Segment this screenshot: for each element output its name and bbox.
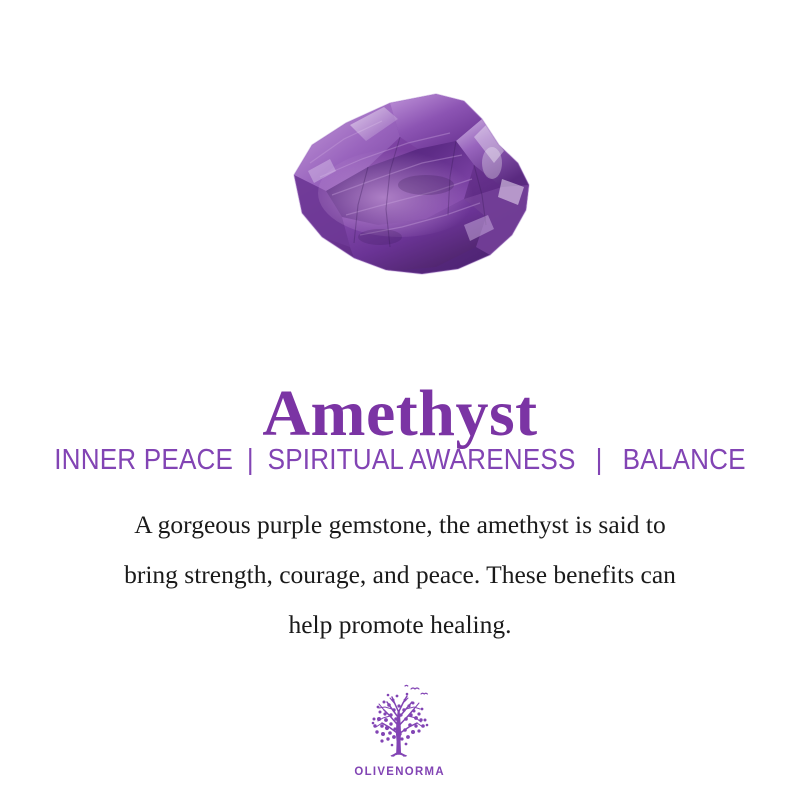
tree-logo-icon xyxy=(361,682,439,762)
attribute-separator: | xyxy=(241,444,261,476)
attribute-inner-peace: INNER PEACE xyxy=(54,444,233,476)
raw-amethyst-crystal-icon xyxy=(250,67,550,297)
description-text: A gorgeous purple gemstone, the amethyst… xyxy=(60,500,740,650)
brand-logo: OLIVENORMA xyxy=(0,682,800,778)
brand-wordmark: OLIVENORMA xyxy=(355,764,446,778)
attribute-spiritual-awareness: SPIRITUAL AWARENESS xyxy=(268,444,576,476)
attribute-balance: BALANCE xyxy=(623,444,746,476)
description-line: bring strength, courage, and peace. Thes… xyxy=(60,550,740,600)
description-line: A gorgeous purple gemstone, the amethyst… xyxy=(60,500,740,550)
amethyst-info-card: Amethyst INNER PEACE | SPIRITUAL AWARENE… xyxy=(0,0,800,800)
gemstone-image xyxy=(0,62,800,302)
description-line: help promote healing. xyxy=(60,600,740,650)
attributes-line: INNER PEACE | SPIRITUAL AWARENESS | BALA… xyxy=(40,442,760,478)
attribute-separator: | xyxy=(583,444,615,476)
